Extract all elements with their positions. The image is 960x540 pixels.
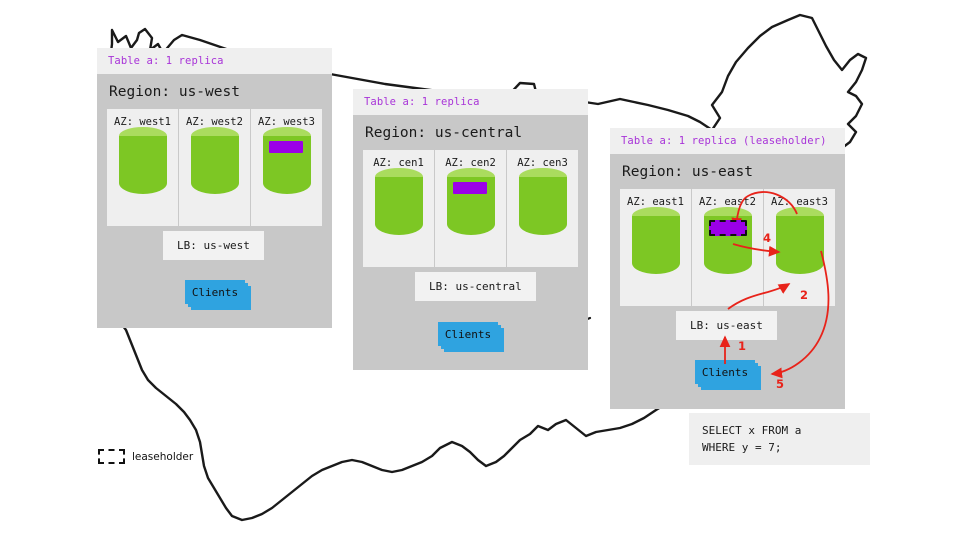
az-strip: AZ: cen1 AZ: cen2 AZ: cen3	[363, 150, 578, 267]
az-cell-east1[interactable]: AZ: east1	[620, 189, 692, 306]
node-cylinder-east2[interactable]	[704, 216, 752, 274]
region-panel-us-west: Table a: 1 replica Region: us-west AZ: w…	[97, 48, 332, 328]
clients-label: Clients	[438, 322, 498, 346]
cylinder-body	[119, 136, 167, 194]
arrow-label-4: 4	[763, 231, 771, 245]
node-cylinder-cen3[interactable]	[519, 177, 567, 235]
load-balancer-us-central[interactable]: LB: us-central	[415, 272, 536, 301]
region-title: Region: us-west	[97, 74, 332, 109]
clients-label: Clients	[185, 280, 245, 304]
az-cell-cen1[interactable]: AZ: cen1	[363, 150, 435, 267]
dashed-rect-icon	[98, 449, 125, 464]
leaseholder-block-east2	[709, 220, 747, 236]
diagram-canvas: Table a: 1 replica Region: us-west AZ: w…	[0, 0, 960, 540]
region-replica-header: Table a: 1 replica	[353, 89, 588, 115]
arrow-label-5: 5	[776, 377, 784, 391]
load-balancer-us-east[interactable]: LB: us-east	[676, 311, 777, 340]
node-cylinder-west1[interactable]	[119, 136, 167, 194]
legend-label: leaseholder	[132, 451, 193, 463]
legend-leaseholder: leaseholder	[98, 449, 193, 464]
cylinder-body	[263, 136, 311, 194]
arrow-label-2: 2	[800, 288, 808, 302]
region-replica-header: Table a: 1 replica (leaseholder)	[610, 128, 845, 154]
node-cylinder-cen1[interactable]	[375, 177, 423, 235]
node-cylinder-east1[interactable]	[632, 216, 680, 274]
replica-block-cen2	[453, 182, 487, 194]
load-balancer-us-west[interactable]: LB: us-west	[163, 231, 264, 260]
az-strip: AZ: west1 AZ: west2 AZ: west3	[107, 109, 322, 226]
region-panel-us-east: Table a: 1 replica (leaseholder) Region:…	[610, 128, 845, 409]
az-cell-west1[interactable]: AZ: west1	[107, 109, 179, 226]
region-panel-us-central: Table a: 1 replica Region: us-central AZ…	[353, 89, 588, 370]
clients-stack-us-central[interactable]: Clients	[438, 322, 498, 346]
node-cylinder-cen2[interactable]	[447, 177, 495, 235]
az-cell-cen2[interactable]: AZ: cen2	[435, 150, 507, 267]
sql-query-box: SELECT x FROM a WHERE y = 7;	[689, 413, 870, 465]
arrow-label-1: 1	[738, 339, 746, 353]
az-cell-west3[interactable]: AZ: west3	[251, 109, 322, 226]
node-cylinder-west2[interactable]	[191, 136, 239, 194]
cylinder-body	[776, 216, 824, 274]
clients-label: Clients	[695, 360, 755, 384]
node-cylinder-east3[interactable]	[776, 216, 824, 274]
cylinder-body	[191, 136, 239, 194]
cylinder-body	[519, 177, 567, 235]
clients-stack-us-west[interactable]: Clients	[185, 280, 245, 304]
az-cell-west2[interactable]: AZ: west2	[179, 109, 251, 226]
cylinder-body	[447, 177, 495, 235]
region-title: Region: us-central	[353, 115, 588, 150]
az-cell-east2[interactable]: AZ: east2	[692, 189, 764, 306]
cylinder-body	[632, 216, 680, 274]
node-cylinder-west3[interactable]	[263, 136, 311, 194]
replica-block-west3	[269, 141, 303, 153]
az-cell-cen3[interactable]: AZ: cen3	[507, 150, 578, 267]
cylinder-body	[375, 177, 423, 235]
clients-stack-us-east[interactable]: Clients	[695, 360, 755, 384]
cylinder-body	[704, 216, 752, 274]
region-title: Region: us-east	[610, 154, 845, 189]
region-replica-header: Table a: 1 replica	[97, 48, 332, 74]
